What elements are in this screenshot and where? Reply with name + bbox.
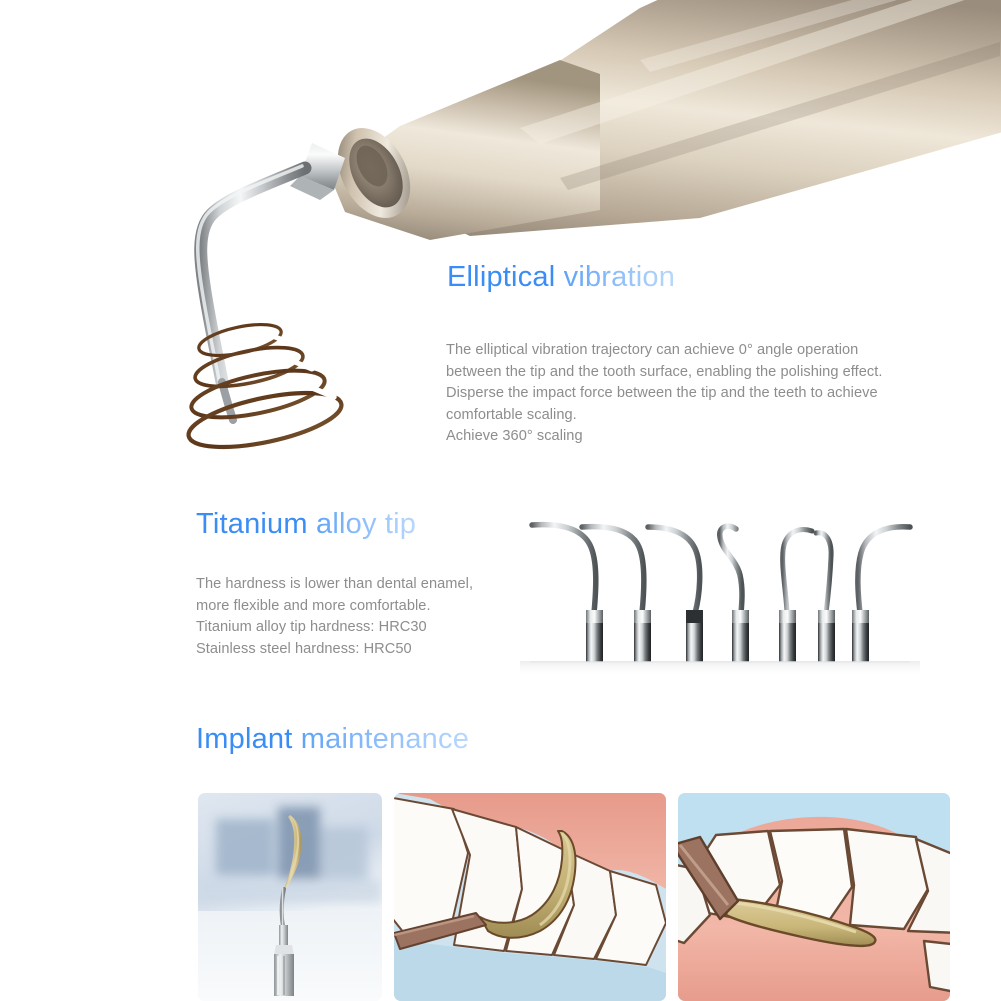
scaler-tip-1 <box>532 525 603 662</box>
seven-scaler-tips-row-graphic <box>520 505 920 680</box>
heading-elliptical-vibration: Elliptical vibration <box>447 263 675 292</box>
implant-tip-interproximal-illustration <box>394 793 666 1001</box>
scaler-tip <box>198 143 345 420</box>
spiral-helix-breaks <box>264 333 334 397</box>
product-feature-page: Elliptical vibration The elliptical vibr… <box>0 0 1001 1001</box>
heading-soft-text: alloy tip <box>316 508 416 540</box>
paragraph-elliptical-vibration: The elliptical vibration trajectory can … <box>446 340 981 448</box>
implant-tip-gumline-illustration <box>678 793 950 1001</box>
elliptical-vibration-spiral <box>184 319 346 458</box>
implant-maintenance-gallery <box>198 793 950 1001</box>
scaler-tip-3 <box>648 527 703 662</box>
paragraph-titanium-alloy-tip: The hardness is lower than dental enamel… <box>196 574 526 660</box>
heading-soft-text: vibration <box>564 261 675 293</box>
scaler-tip-7 <box>852 527 910 662</box>
heading-implant-maintenance: Implant maintenance <box>196 725 469 754</box>
heading-strong-text: Elliptical <box>447 261 555 293</box>
implant-tip-product-photo <box>198 793 382 1001</box>
scaler-tip-5 <box>779 530 812 662</box>
heading-strong-text: Titanium <box>196 508 308 540</box>
scaler-tip-6 <box>816 533 835 662</box>
heading-strong-text: Implant <box>196 723 293 755</box>
heading-titanium-alloy-tip: Titanium alloy tip <box>196 510 416 539</box>
handpiece-body <box>330 0 1001 240</box>
heading-soft-text: maintenance <box>301 723 469 755</box>
handpiece-collar-ring <box>323 116 425 231</box>
scaler-tip-4 <box>720 526 749 662</box>
